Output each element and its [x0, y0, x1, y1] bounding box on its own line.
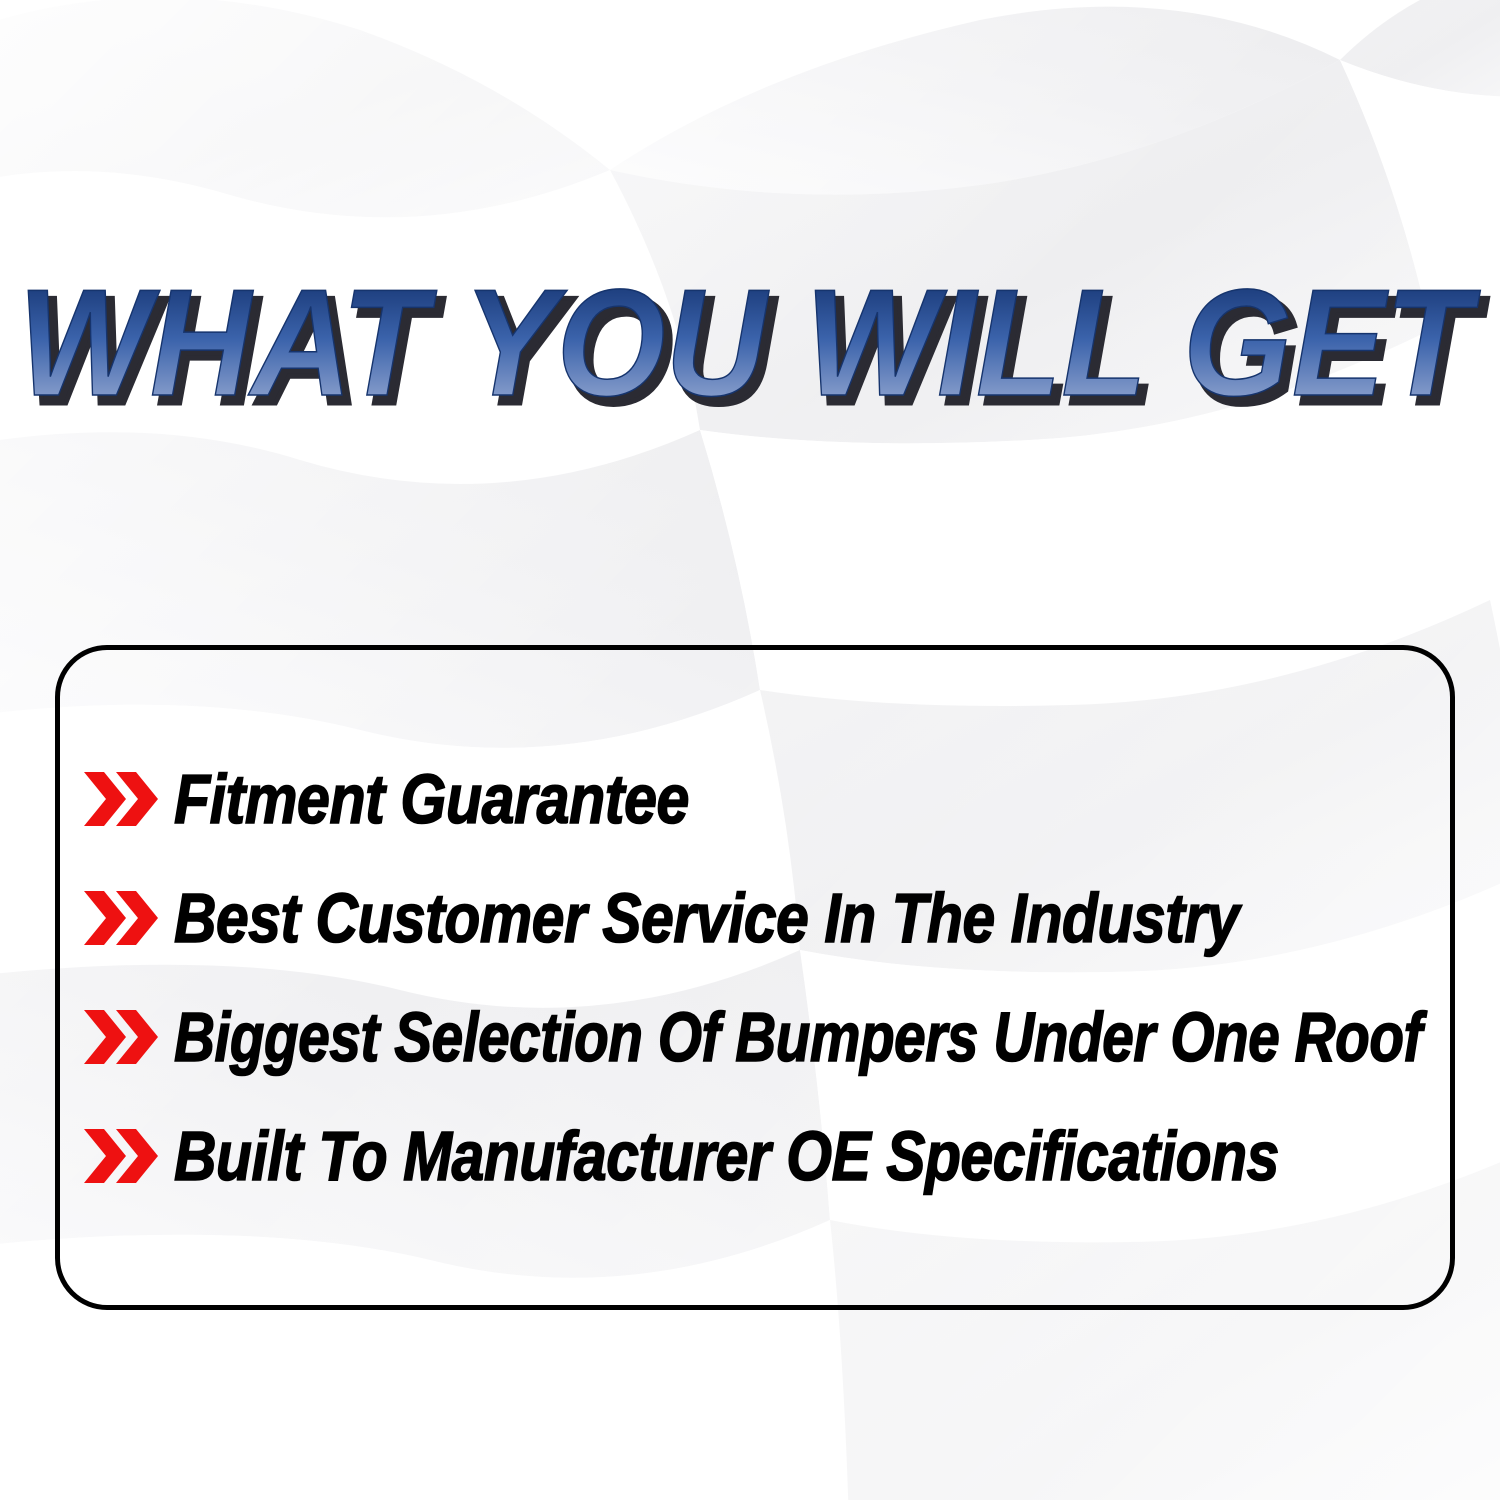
- list-item: Best Customer Service In The Industry: [82, 872, 1432, 964]
- double-chevron-right-icon: [82, 1006, 160, 1068]
- list-item: Built To Manufacturer OE Specifications: [82, 1110, 1432, 1202]
- list-item: Biggest Selection Of Bumpers Under One R…: [82, 991, 1432, 1083]
- list-item-label: Biggest Selection Of Bumpers Under One R…: [174, 1002, 1422, 1072]
- double-chevron-right-icon: [82, 887, 160, 949]
- list-item-label: Fitment Guarantee: [174, 764, 689, 834]
- page-title-artwork: WHAT YOU WILL GET WHAT YOU WILL GET: [0, 255, 1500, 445]
- list-item-label: Built To Manufacturer OE Specifications: [174, 1121, 1279, 1191]
- double-chevron-right-icon: [82, 1125, 160, 1187]
- page-title-text: WHAT YOU WILL GET: [18, 258, 1481, 428]
- page-title: WHAT YOU WILL GET WHAT YOU WILL GET: [0, 255, 1500, 445]
- list-item-label: Best Customer Service In The Industry: [174, 883, 1239, 953]
- list-item: Fitment Guarantee: [82, 753, 1432, 845]
- double-chevron-right-icon: [82, 768, 160, 830]
- benefits-panel: Fitment Guarantee Best Customer Service …: [55, 645, 1455, 1310]
- promo-graphic: WHAT YOU WILL GET WHAT YOU WILL GET Fitm…: [0, 0, 1500, 1500]
- benefits-list: Fitment Guarantee Best Customer Service …: [60, 650, 1450, 1305]
